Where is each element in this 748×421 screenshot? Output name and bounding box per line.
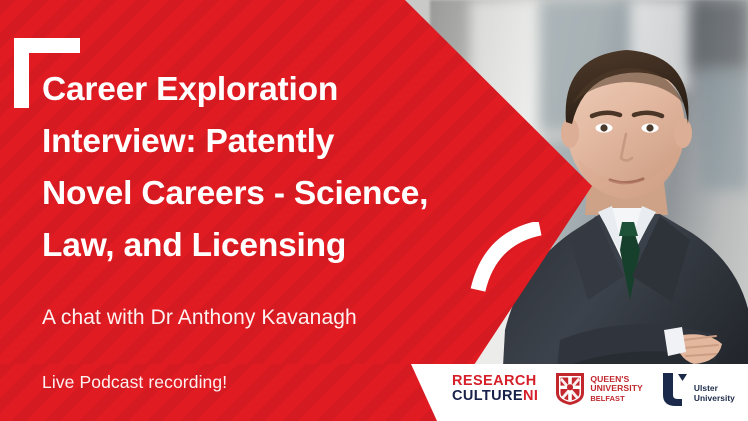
ulster-university-logo: Ulster University: [660, 371, 735, 407]
queens-university-belfast-logo: QUEEN'S UNIVERSITY BELFAST: [555, 372, 643, 406]
headline-line-2: Interview: Patently: [42, 116, 512, 168]
headline-line-4: Law, and Licensing: [42, 220, 512, 272]
ulster-line-2: University: [694, 394, 735, 404]
qub-line-2: UNIVERSITY: [590, 384, 643, 394]
rcni-line-1: RESEARCH: [452, 374, 538, 390]
headline-line-3: Novel Careers - Science,: [42, 168, 512, 220]
subtitle: A chat with Dr Anthony Kavanagh: [42, 306, 357, 330]
ulster-u-mark-icon: [660, 371, 690, 407]
research-culture-ni-logo: RESEARCH CULTURENI: [452, 374, 538, 405]
rcni-ni-word: NI: [523, 388, 538, 404]
qub-line-3: BELFAST: [590, 394, 643, 404]
headline-line-1: Career Exploration: [42, 64, 512, 116]
queens-wordmark: QUEEN'S UNIVERSITY BELFAST: [590, 375, 643, 404]
bracket-vertical-bar: [14, 38, 29, 108]
page-title: Career Exploration Interview: Patently N…: [42, 64, 512, 272]
event-poster: Career Exploration Interview: Patently N…: [0, 0, 748, 421]
kicker-text: Live Podcast recording!: [42, 372, 227, 393]
rcni-line-2: CULTURENI: [452, 389, 538, 405]
ulster-wordmark: Ulster University: [694, 384, 735, 407]
partner-logos: RESEARCH CULTURENI QUEEN'S UNIVERSITY BE…: [452, 368, 735, 410]
rcni-culture-word: CULTURE: [452, 388, 523, 404]
queens-crest-icon: [555, 372, 585, 406]
